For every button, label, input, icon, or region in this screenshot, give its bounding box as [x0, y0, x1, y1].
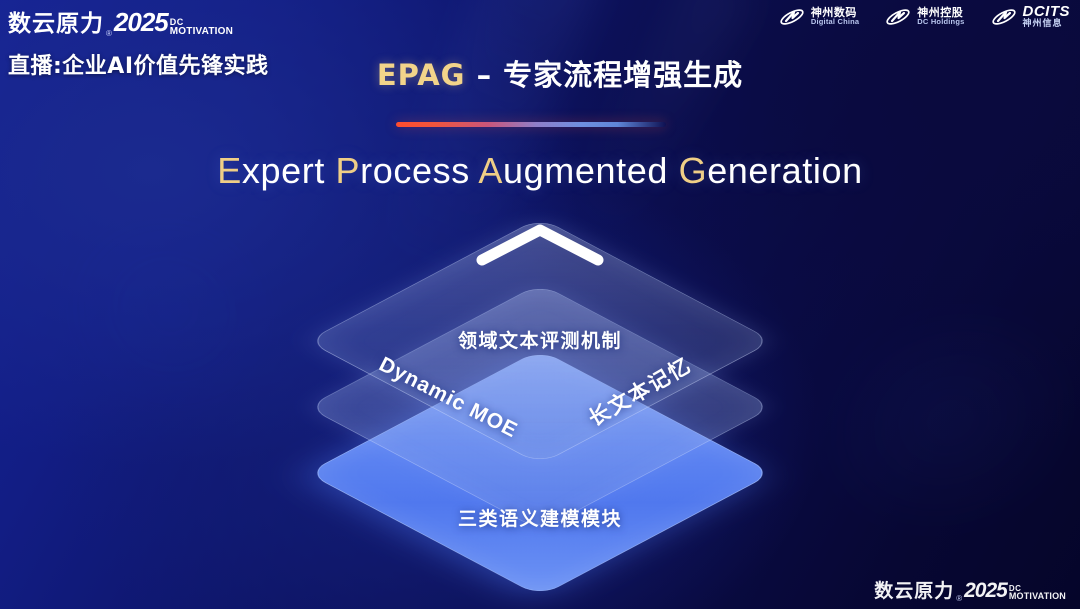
brand-logo-bottom: 数云原力 ® 2025 DC MOTIVATION	[874, 576, 1066, 603]
partner-name-en: DC Holdings	[917, 18, 964, 26]
brand-name-cn: 数云原力	[8, 4, 104, 38]
partner-name-cn: 神州信息	[1023, 20, 1071, 29]
partner-logo-row: 神州数码 Digital China 神州控股 DC Holdings	[779, 4, 1070, 29]
registered-mark: ®	[106, 30, 112, 38]
title-chinese: – 专家流程增强生成	[465, 58, 743, 92]
stack-plate-top	[307, 217, 774, 464]
layered-stack-diagram: 领域文本评测机制 Dynamic MOE 长文本记忆 三类语义建模模块	[252, 218, 828, 578]
brand-year: 2025	[964, 579, 1007, 603]
brand-name-cn: 数云原力	[874, 576, 954, 603]
brand-dc-motivation: DC MOTIVATION	[170, 18, 233, 38]
brand-logo-top: 数云原力 ® 2025 DC MOTIVATION	[8, 4, 233, 38]
swirl-logo-icon	[991, 6, 1017, 28]
brand-dc-motivation: DC MOTIVATION	[1009, 585, 1066, 603]
swirl-logo-icon	[779, 6, 805, 28]
brand-motivation-text: MOTIVATION	[1009, 592, 1066, 601]
partner-name-en: Digital China	[811, 18, 859, 26]
partner-logo-digital-china: 神州数码 Digital China	[779, 6, 859, 28]
partner-logo-dc-holdings: 神州控股 DC Holdings	[885, 6, 964, 28]
partner-name-en: DCITS	[1023, 4, 1071, 20]
subtitle-word-generation: eneration	[707, 150, 863, 191]
subtitle-word-expert: xpert	[242, 150, 336, 191]
partner-logo-text: DCITS 神州信息	[1023, 4, 1071, 29]
subtitle-cap-e: E	[217, 150, 242, 191]
page-title: EPAG – 专家流程增强生成	[0, 52, 1080, 94]
subtitle-cap-p: P	[336, 150, 361, 191]
partner-logo-text: 神州数码 Digital China	[811, 7, 859, 26]
slide-canvas: 数云原力 ® 2025 DC MOTIVATION 直播:企业AI价值先锋实践 …	[0, 0, 1080, 609]
stack-layer-top	[375, 176, 705, 506]
accent-divider-bar	[396, 122, 666, 127]
title-acronym: EPAG	[377, 58, 466, 92]
registered-mark: ®	[956, 595, 962, 603]
brand-year: 2025	[114, 7, 168, 38]
partner-logo-text: 神州控股 DC Holdings	[917, 7, 964, 26]
swirl-logo-icon	[885, 6, 911, 28]
brand-motivation-text: MOTIVATION	[170, 27, 233, 37]
partner-logo-dcits: DCITS 神州信息	[991, 4, 1071, 29]
